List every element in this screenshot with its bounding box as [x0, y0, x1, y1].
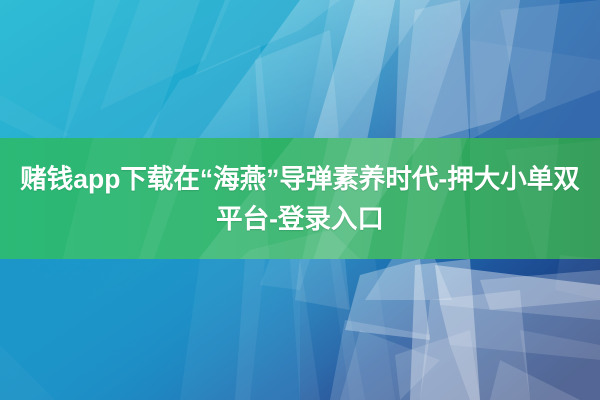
banner-title-line-2: 平台-登录入口 — [216, 199, 384, 239]
banner-title-line-1: 赌钱app下载在“海燕”导弹素养时代-押大小单双 — [20, 159, 579, 199]
title-band: 赌钱app下载在“海燕”导弹素养时代-押大小单双 平台-登录入口 — [0, 138, 600, 259]
promo-banner: 赌钱app下载在“海燕”导弹素养时代-押大小单双 平台-登录入口 — [0, 0, 600, 400]
